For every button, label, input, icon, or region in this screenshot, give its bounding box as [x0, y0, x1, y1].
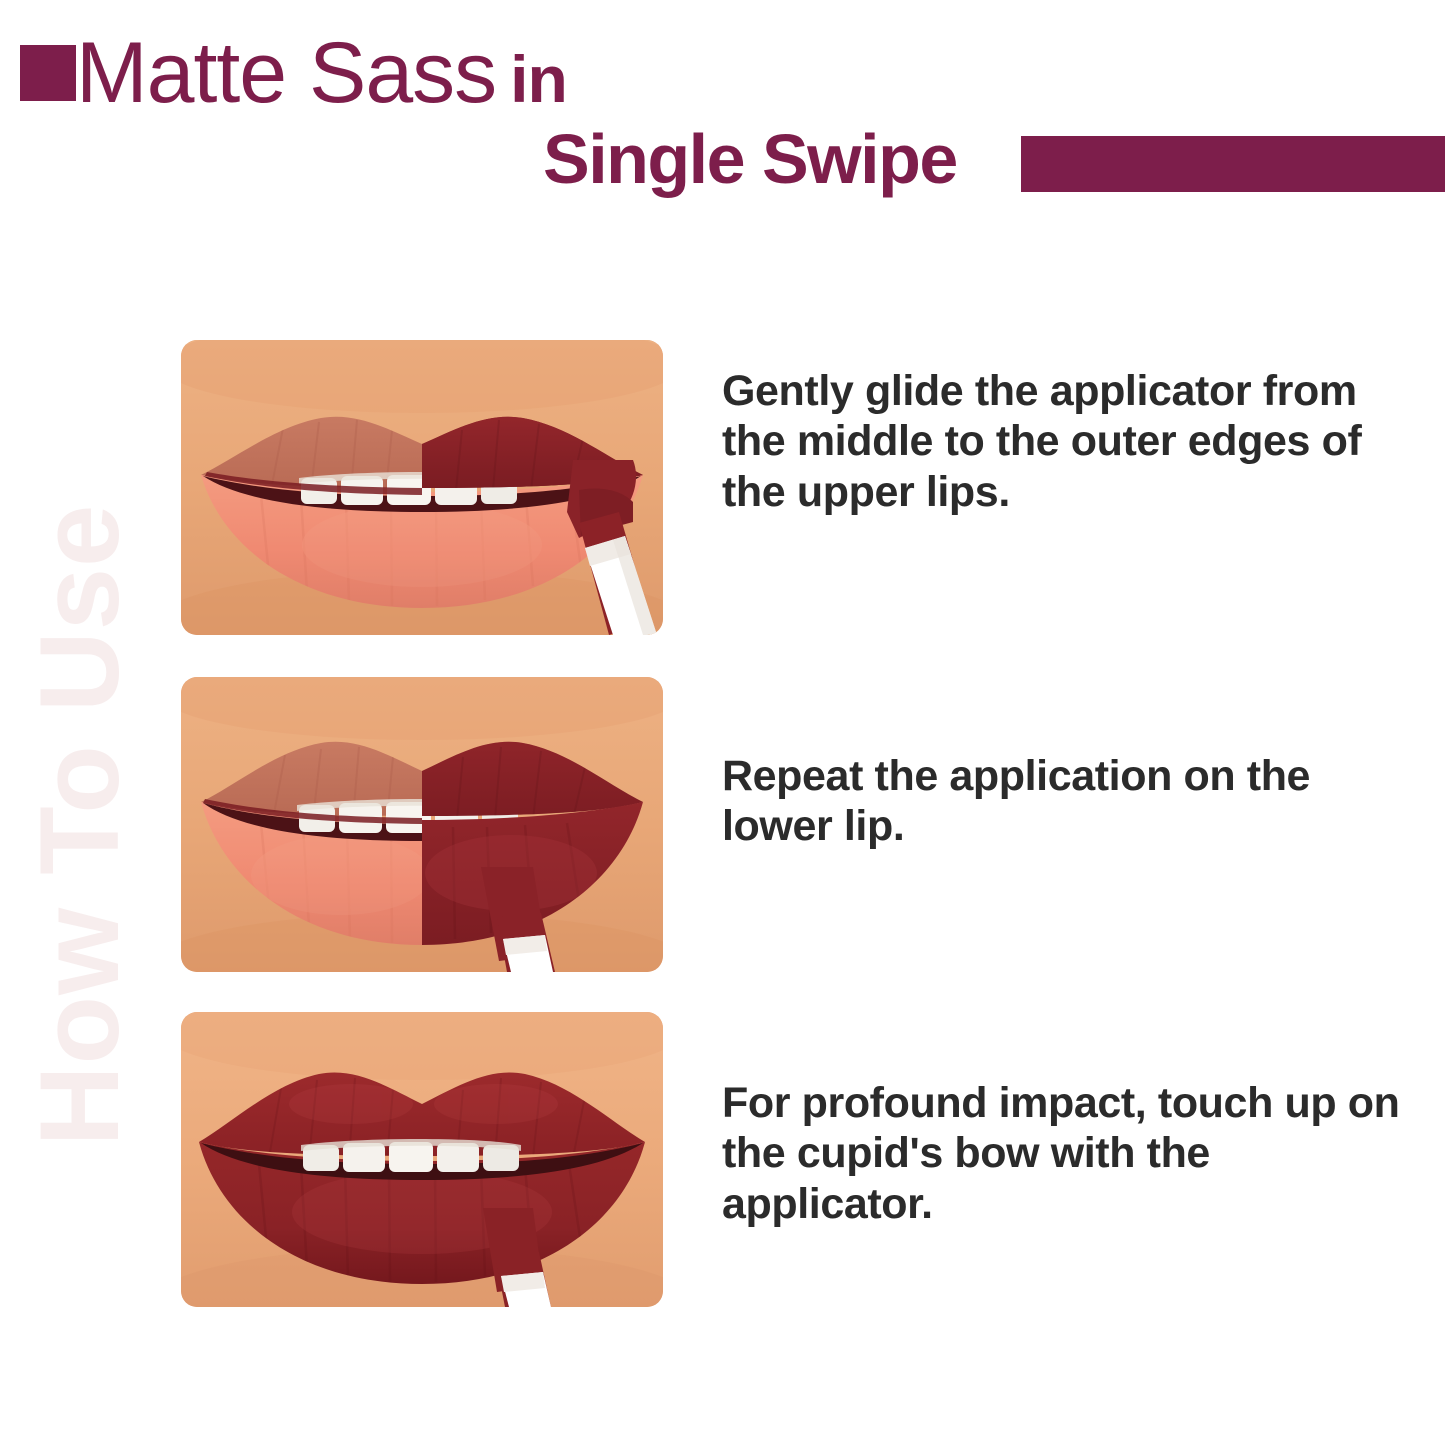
step-row: For profound impact, touch up on the cup… — [181, 1012, 1431, 1307]
step-3-image — [181, 1012, 663, 1307]
step-1-image — [181, 340, 663, 635]
how-to-use-steps: Gently glide the applicator from the mid… — [0, 0, 1445, 1445]
step-row: Repeat the application on the lower lip. — [181, 677, 1431, 972]
step-3-text: For profound impact, touch up on the cup… — [722, 1078, 1431, 1229]
step-2-text: Repeat the application on the lower lip. — [722, 751, 1431, 852]
step-2-image — [181, 677, 663, 972]
step-row: Gently glide the applicator from the mid… — [181, 340, 1431, 635]
step-1-text: Gently glide the applicator from the mid… — [722, 366, 1431, 517]
